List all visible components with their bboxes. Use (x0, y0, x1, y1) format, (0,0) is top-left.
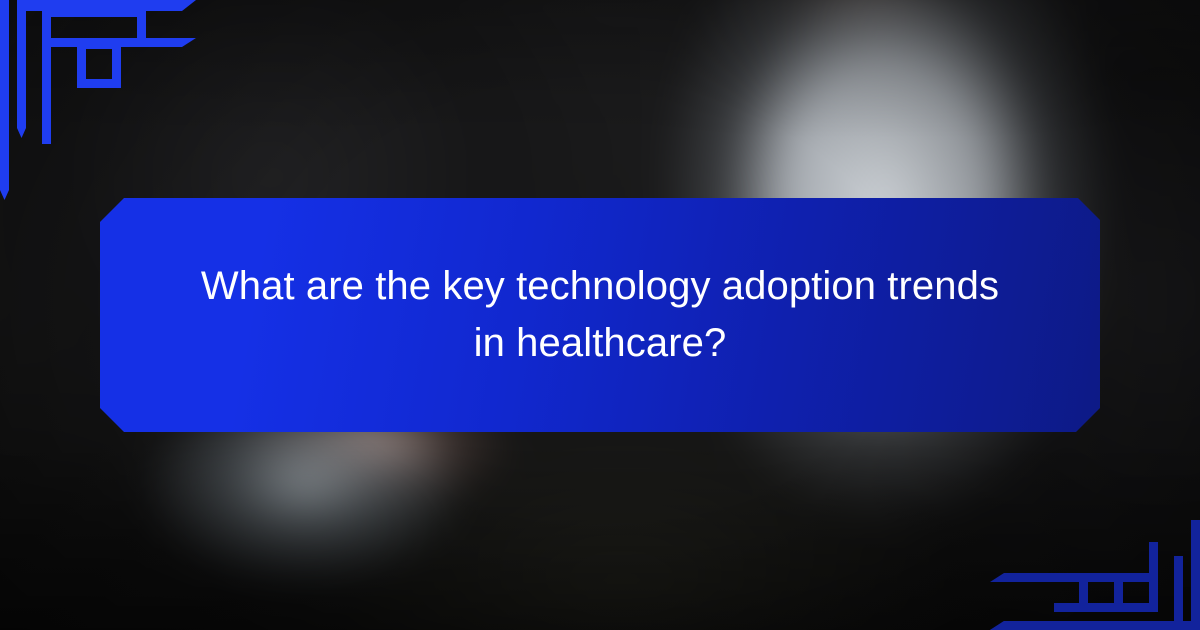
bracket-ornament-top-left-icon (0, 0, 210, 210)
corner-ornament-top-left (0, 0, 210, 210)
corner-ornament-bottom-right (990, 520, 1200, 630)
page-title: What are the key technology adoption tre… (200, 258, 1000, 372)
slide-canvas: What are the key technology adoption tre… (0, 0, 1200, 630)
bracket-ornament-bottom-right-icon (990, 520, 1200, 630)
headline-banner: What are the key technology adoption tre… (100, 198, 1100, 432)
